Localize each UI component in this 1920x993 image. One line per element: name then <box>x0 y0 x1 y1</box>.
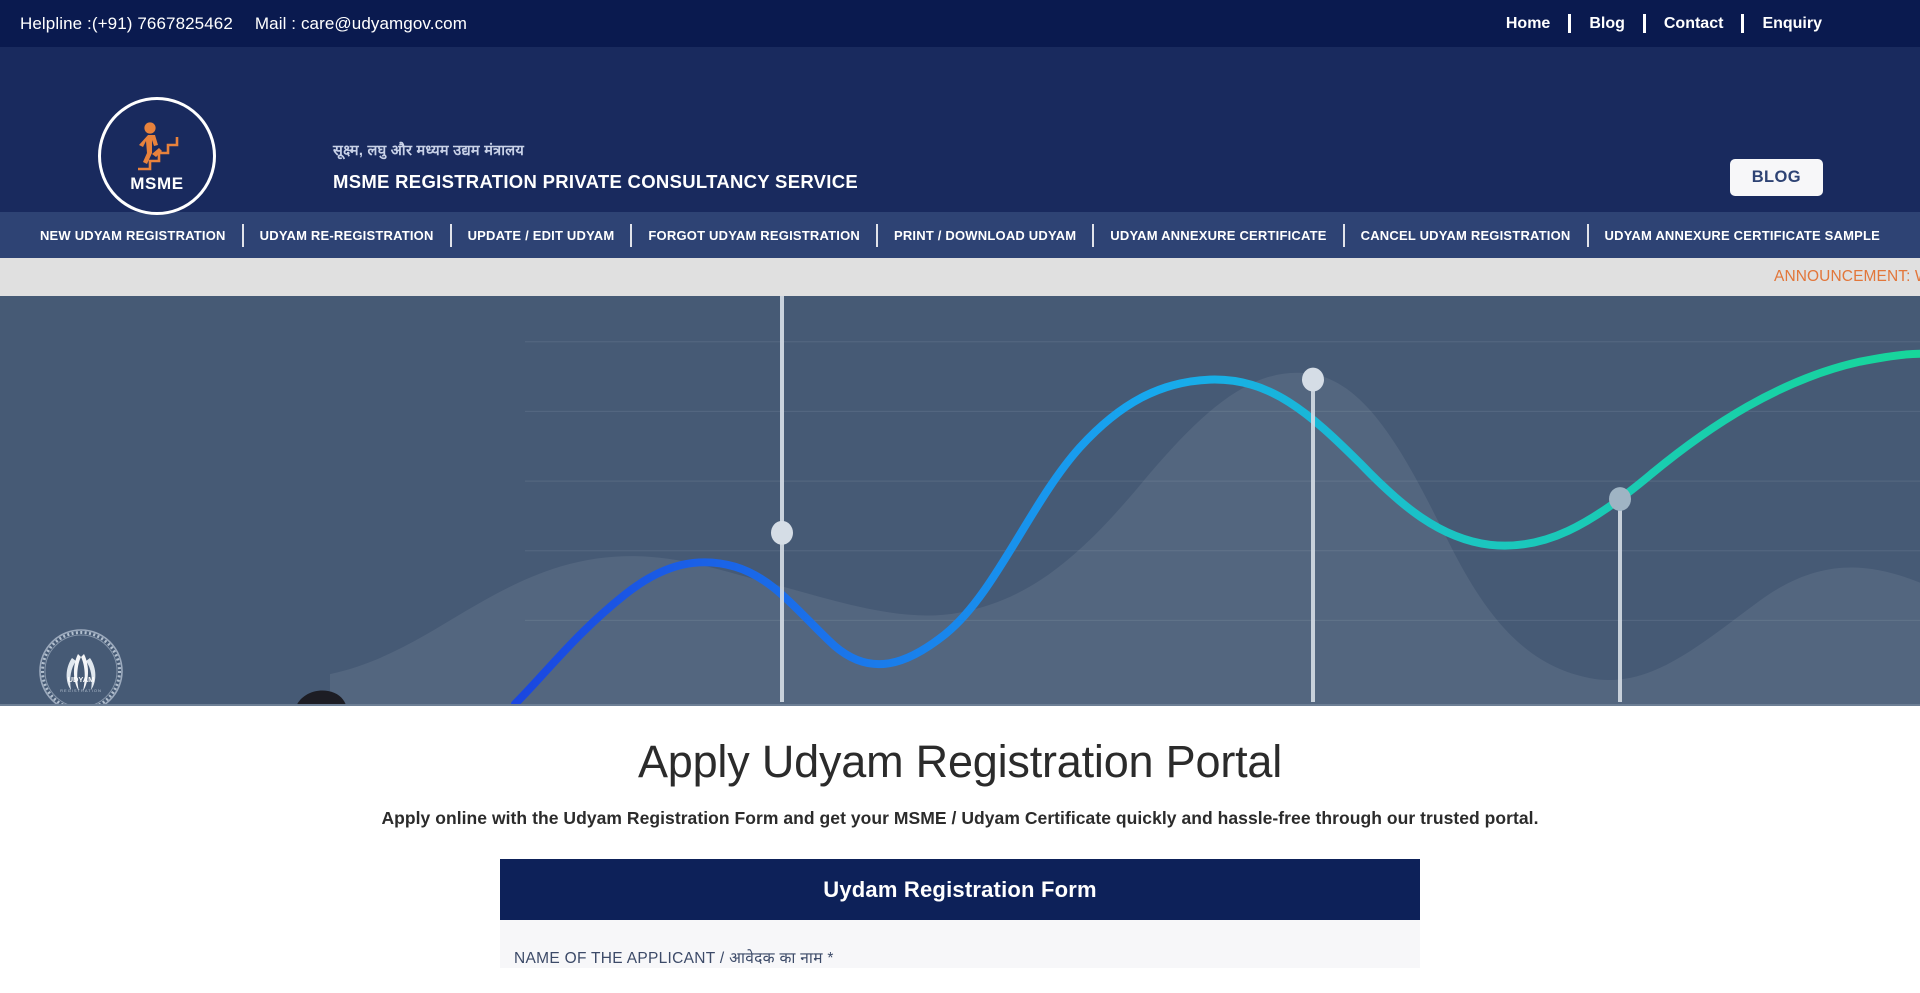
msme-logo-label: MSME <box>130 175 183 192</box>
topnav-item-home[interactable]: Home <box>1488 15 1568 33</box>
divider <box>1092 224 1094 247</box>
nav-item-print-download-udyam[interactable]: PRINT / DOWNLOAD UDYAM <box>878 229 1092 242</box>
page-subtitle: Apply online with the Udyam Registration… <box>0 808 1920 829</box>
divider <box>876 224 878 247</box>
svg-text:REGISTRATION: REGISTRATION <box>60 688 102 693</box>
businessman-pointing-illustration <box>252 686 404 706</box>
hero-banner: UDYAM REGISTRATION <box>0 296 1920 706</box>
main-navigation: NEW UDYAM REGISTRATION UDYAM RE-REGISTRA… <box>0 212 1920 258</box>
nav-item-udyam-annexure-certificate[interactable]: UDYAM ANNEXURE CERTIFICATE <box>1094 229 1342 242</box>
helpline-text: Helpline :(+91) 7667825462 <box>20 14 233 34</box>
nav-item-udyam-annexure-certificate-sample[interactable]: UDYAM ANNEXURE CERTIFICATE SAMPLE <box>1589 229 1897 242</box>
contact-info: Helpline :(+91) 7667825462 Mail : care@u… <box>20 14 467 34</box>
topnav-item-contact[interactable]: Contact <box>1646 15 1742 33</box>
blog-button[interactable]: BLOG <box>1730 159 1823 196</box>
person-climbing-stairs-icon <box>128 121 186 173</box>
main-navigation-items: NEW UDYAM REGISTRATION UDYAM RE-REGISTRA… <box>24 224 1896 247</box>
divider <box>450 224 452 247</box>
announcement-text: ANNOUNCEMENT: We ha <box>1774 268 1920 286</box>
registration-form-card: Uydam Registration Form NAME OF THE APPL… <box>500 859 1420 968</box>
form-body: NAME OF THE APPLICANT / आवेदक का नाम * <box>500 920 1420 968</box>
mail-text: Mail : care@udyamgov.com <box>255 14 467 34</box>
main-content: Apply Udyam Registration Portal Apply on… <box>0 706 1920 968</box>
growth-curve-chart <box>0 296 1920 704</box>
brand-hindi-tagline: सूक्ष्म, लघु और मध्यम उद्यम मंत्रालय <box>333 140 858 160</box>
applicant-name-label: NAME OF THE APPLICANT / आवेदक का नाम * <box>514 950 834 967</box>
top-nav: Home Blog Contact Enquiry <box>1488 14 1896 33</box>
nav-item-cancel-udyam-registration[interactable]: CANCEL UDYAM REGISTRATION <box>1345 229 1587 242</box>
nav-item-new-udyam-registration[interactable]: NEW UDYAM REGISTRATION <box>24 229 242 242</box>
divider <box>1343 224 1345 247</box>
topnav-item-enquiry[interactable]: Enquiry <box>1744 15 1840 33</box>
divider <box>1587 224 1589 247</box>
udyam-registration-seal-icon: UDYAM REGISTRATION <box>38 628 124 706</box>
page-title: Apply Udyam Registration Portal <box>0 736 1920 788</box>
msme-logo[interactable]: MSME <box>98 97 216 215</box>
brand-text-block: सूक्ष्म, लघु और मध्यम उद्यम मंत्रालय MSM… <box>333 140 858 193</box>
form-card-heading: Uydam Registration Form <box>500 859 1420 920</box>
nav-item-forgot-udyam-registration[interactable]: FORGOT UDYAM REGISTRATION <box>632 229 876 242</box>
nav-item-update-edit-udyam[interactable]: UPDATE / EDIT UDYAM <box>452 229 631 242</box>
top-utility-bar: Helpline :(+91) 7667825462 Mail : care@u… <box>0 0 1920 47</box>
divider <box>630 224 632 247</box>
site-header: MSME सूक्ष्म, लघु और मध्यम उद्यम मंत्राल… <box>0 47 1920 212</box>
svg-text:UDYAM: UDYAM <box>68 675 95 684</box>
topnav-item-blog[interactable]: Blog <box>1571 15 1643 33</box>
announcement-bar: ANNOUNCEMENT: We ha <box>0 258 1920 296</box>
chart-background-area <box>330 373 1920 704</box>
brand-english-title: MSME REGISTRATION PRIVATE CONSULTANCY SE… <box>333 171 858 193</box>
divider <box>242 224 244 247</box>
nav-item-udyam-re-registration[interactable]: UDYAM RE-REGISTRATION <box>244 229 450 242</box>
